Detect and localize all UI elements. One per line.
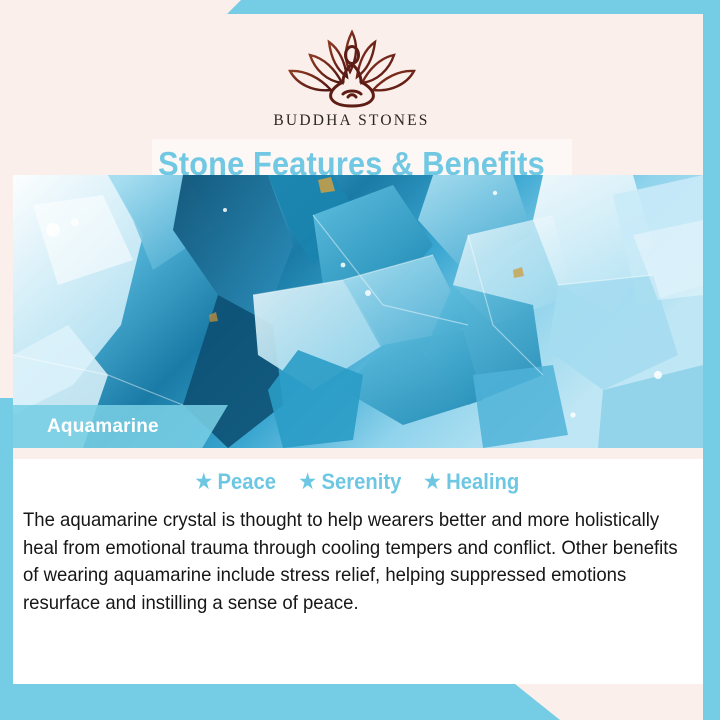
body-description: The aquamarine crystal is thought to hel…	[23, 507, 682, 617]
benefit-item: ★ Healing	[425, 469, 520, 495]
left-blue-strip	[0, 398, 14, 720]
bottom-blue-banner	[0, 684, 560, 720]
star-icon: ★	[196, 472, 213, 492]
star-icon: ★	[299, 472, 316, 492]
benefit-item: ★ Serenity	[299, 469, 401, 495]
cream-divider	[13, 448, 703, 459]
brand-logo: BUDDHA STONES	[0, 24, 703, 130]
content-panel: ★ Peace ★ Serenity ★ Healing The aquamar…	[13, 459, 703, 684]
poster-root: BUDDHA STONES Stone Features & Benefits	[0, 0, 720, 720]
right-blue-strip	[703, 0, 720, 720]
benefit-label: Serenity	[321, 469, 401, 495]
benefit-label: Peace	[218, 469, 277, 495]
benefit-label: Healing	[447, 469, 520, 495]
header: BUDDHA STONES Stone Features & Benefits	[0, 14, 703, 175]
star-icon: ★	[425, 472, 442, 492]
brand-name: BUDDHA STONES	[0, 112, 703, 130]
lotus-meditation-icon	[279, 24, 425, 110]
benefit-item: ★ Peace	[196, 469, 277, 495]
stone-name-label: Aquamarine	[47, 405, 159, 448]
benefits-row: ★ Peace ★ Serenity ★ Healing	[13, 461, 703, 503]
